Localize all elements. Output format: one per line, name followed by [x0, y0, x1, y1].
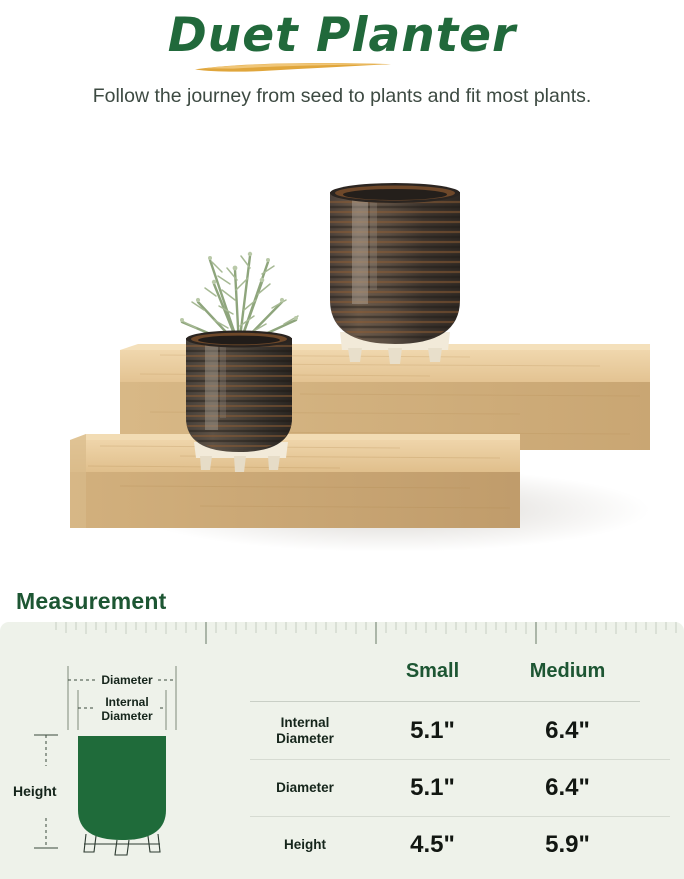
row-label: InternalDiameter: [250, 702, 360, 759]
row-label: Height: [250, 816, 360, 873]
internal-diameter-label-line1: Internal: [105, 695, 148, 709]
diameter-label: Diameter: [101, 673, 153, 687]
table-row: InternalDiameter 5.1" 6.4": [250, 702, 670, 759]
table-row: Height 4.5" 5.9": [250, 816, 670, 873]
title-underline-swoosh: [193, 60, 393, 73]
cell-medium: 5.9": [505, 816, 630, 873]
height-label: Height: [13, 783, 57, 799]
cell-small: 5.1": [370, 702, 495, 759]
cell-medium: 6.4": [505, 759, 630, 816]
measurement-heading: Measurement: [16, 588, 166, 615]
cell-medium: 6.4": [505, 702, 630, 759]
page-subtitle: Follow the journey from seed to plants a…: [92, 82, 592, 110]
row-label-line2: Diameter: [276, 731, 334, 746]
table-header-row: Small Medium: [250, 652, 670, 702]
table-row: Diameter 5.1" 6.4": [250, 759, 670, 816]
page-header: Duet Planter Follow the journey from see…: [0, 0, 684, 150]
column-header-small: Small: [370, 660, 495, 683]
measurement-table: Small Medium InternalDiameter 5.1" 6.4" …: [250, 652, 670, 874]
cell-small: 4.5": [370, 816, 495, 873]
row-label: Diameter: [250, 759, 360, 816]
column-header-medium: Medium: [505, 660, 630, 683]
product-photo: [0, 150, 684, 570]
planter-dimension-diagram: Diameter Internal Diameter Height: [8, 658, 248, 873]
cell-small: 5.1": [370, 759, 495, 816]
row-label-line1: Internal: [281, 715, 330, 730]
measurement-panel: Diameter Internal Diameter Height Smal: [0, 622, 684, 879]
internal-diameter-label-line2: Diameter: [101, 709, 153, 723]
pot-silhouette: [78, 736, 166, 840]
ruler-decoration: [0, 622, 684, 648]
page-title: Duet Planter: [0, 6, 684, 66]
